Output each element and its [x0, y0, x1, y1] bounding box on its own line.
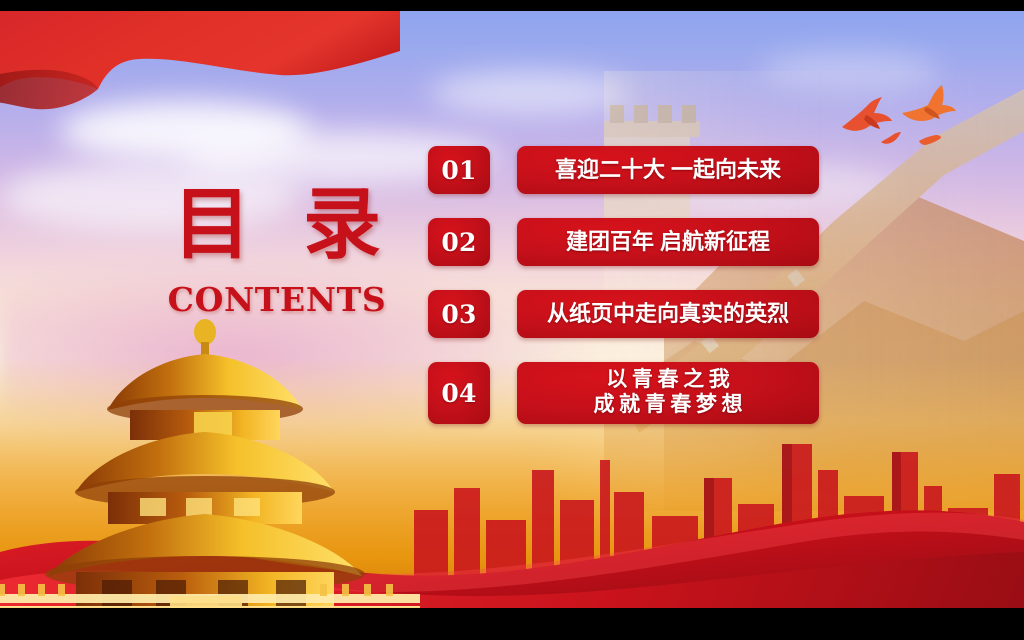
dove-icon	[918, 133, 942, 152]
item-title-line2: 成就青春梦想	[589, 393, 747, 418]
item-number-badge: 02	[428, 218, 490, 266]
item-number-badge: 04	[428, 362, 490, 424]
page-subtitle: CONTENTS	[132, 280, 422, 319]
contents-title-block: 目 录 CONTENTS	[132, 186, 422, 319]
letterbox-bottom	[0, 608, 1024, 640]
item-title-bar[interactable]: 从纸页中走向真实的英烈	[517, 290, 819, 338]
item-title-line1: 建团百年 启航新征程	[566, 229, 770, 255]
contents-item-04[interactable]: 04 以青春之我 成就青春梦想	[428, 362, 828, 424]
cloud	[430, 71, 630, 115]
presentation-slide: 目 录 CONTENTS 01 喜迎二十大 一起向未来 02 建团百年 启航新征…	[0, 0, 1024, 640]
item-number-badge: 01	[428, 146, 490, 194]
item-title-bar[interactable]: 建团百年 启航新征程	[517, 218, 819, 266]
item-title-line1: 喜迎二十大 一起向未来	[555, 157, 781, 183]
temple-of-heaven-image	[0, 314, 420, 608]
item-title-line1: 以青春之我	[602, 368, 735, 393]
contents-item-03[interactable]: 03 从纸页中走向真实的英烈	[428, 290, 828, 338]
dove-icon	[900, 83, 956, 134]
item-title-line1: 从纸页中走向真实的英烈	[547, 301, 789, 327]
contents-list: 01 喜迎二十大 一起向未来 02 建团百年 启航新征程 03 从纸页中走向真实…	[428, 146, 828, 424]
letterbox-top	[0, 0, 1024, 11]
item-number-badge: 03	[428, 290, 490, 338]
page-title: 目 录	[132, 186, 422, 264]
item-title-bar[interactable]: 以青春之我 成就青春梦想	[517, 362, 819, 424]
contents-item-02[interactable]: 02 建团百年 启航新征程	[428, 218, 828, 266]
item-title-bar[interactable]: 喜迎二十大 一起向未来	[517, 146, 819, 194]
dove-icon	[880, 131, 902, 152]
contents-item-01[interactable]: 01 喜迎二十大 一起向未来	[428, 146, 828, 194]
red-flag	[0, 11, 400, 125]
